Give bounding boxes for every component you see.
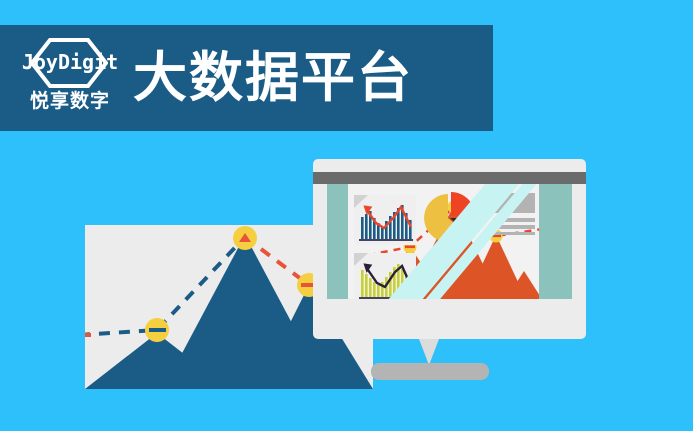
olive-bar-chart-graphic — [354, 253, 416, 299]
logo-wordmark: JoyDigit — [16, 51, 124, 73]
screen-side-band-left — [327, 184, 348, 299]
placeholder-line-3 — [493, 232, 535, 235]
data-marker-2 — [233, 226, 257, 250]
header-banner: JoyDigit 悦享数字 大数据平台 — [0, 25, 493, 131]
monitor-stand-neck — [419, 339, 439, 365]
text-placeholder-block — [493, 193, 540, 235]
banner-title: 大数据平台 — [133, 47, 413, 109]
monitor-bezel-top — [313, 172, 586, 184]
brand-logo: JoyDigit 悦享数字 — [16, 38, 124, 118]
placeholder-line-2 — [493, 225, 535, 229]
monitor-screen — [327, 184, 572, 299]
trend-line-dark — [366, 266, 411, 287]
pie-chart — [422, 191, 476, 245]
blue-bar-chart-graphic — [354, 195, 416, 245]
pie-slice-red — [451, 192, 475, 216]
poster-canvas: 大数据平台 JoyDigit 悦享数字 大数据平台 — [0, 0, 693, 431]
placeholder-image — [493, 193, 535, 213]
trend-line-red — [366, 207, 411, 228]
data-marker-1 — [145, 318, 169, 342]
monitor-stand-base — [371, 363, 489, 380]
bar-chart-card-olive — [354, 253, 416, 299]
desktop-monitor — [313, 159, 586, 339]
screen-side-band-right — [539, 184, 572, 299]
logo-subtitle: 悦享数字 — [16, 90, 124, 112]
placeholder-line-1 — [493, 218, 535, 222]
bar-chart-card-blue — [354, 195, 416, 245]
